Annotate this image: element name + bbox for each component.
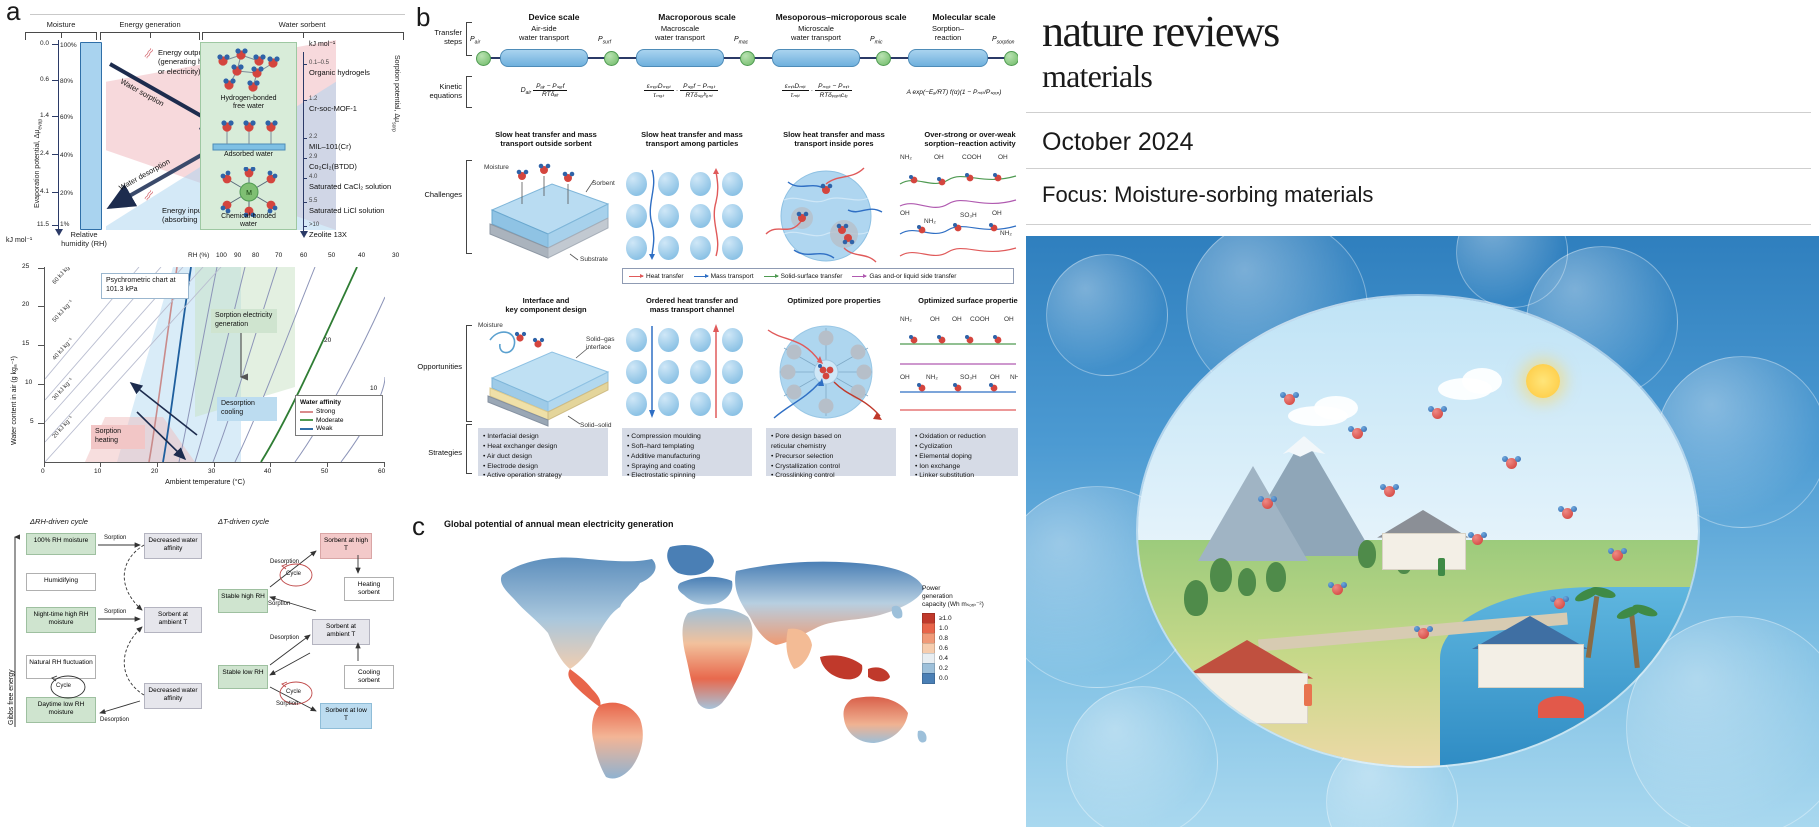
cloud-2b (1314, 396, 1358, 420)
brace-sorbent (202, 32, 404, 40)
c-legend-label-0: ≥1.0 (939, 615, 952, 622)
strategies-box-meso: • Pore design based on reticular chemist… (766, 428, 896, 476)
cycle-right-edges (210, 515, 410, 755)
step-label-sorption-reaction: Sorption– reaction (902, 24, 994, 42)
sorbent-state-0-caption: Hydrogen-bonded free water (201, 95, 296, 112)
group-oh-2: OH (998, 154, 1008, 161)
strategy-s-4: • Crosslinking control (771, 471, 891, 481)
opportunity-title-1: Ordered heat transfer and mass transport… (622, 296, 762, 315)
op2-l1: Optimized pore properties (764, 296, 904, 305)
ch0-l2: transport outside sorbent (476, 139, 616, 148)
caption-substrate: Substrate (580, 256, 608, 263)
tree-5 (1358, 540, 1376, 568)
sorbent-state-2-l2: water (201, 221, 296, 229)
cycle-edge-cycle-left: Cycle (56, 683, 71, 689)
c-legend-label-6: 0.0 (939, 675, 948, 682)
legend-heat-transfer: Heat transfer (629, 273, 684, 280)
brace-challenges (466, 160, 472, 254)
scale-value-1: 1.2 (309, 96, 317, 102)
sorbent-state-2-caption: Chemical-bonded water (201, 213, 296, 230)
ch1-l2: transport among particles (622, 139, 762, 148)
psy-ytick-15: 15 (22, 340, 29, 347)
row-label-transfer-steps: Transfer steps (410, 28, 462, 46)
step-sorp-l2: reaction (902, 33, 994, 42)
strategy-m-3: • Spraying and coating (627, 462, 747, 472)
opportunity-title-0: Interface and key component design (476, 296, 616, 315)
sub-p-mic: mic (875, 39, 883, 45)
challenge-title-3: Over-strong or over-weak sorption–reacti… (900, 130, 1018, 149)
ch0-l1: Slow heat transfer and mass (476, 130, 616, 139)
house-red (1188, 640, 1306, 724)
scale-value-5: 5.5 (309, 198, 317, 204)
scale-value-6: >10 (309, 222, 319, 228)
journal-brand-line1: nature reviews (1042, 10, 1279, 55)
equation-micro: εₘᵢ‍ₜDₘᵢₜτₘᵢₜ · Pₘₐₜ − PₘᵢₜRTδₚₐᵣₜᵢᴄₗₑ (762, 82, 872, 99)
sorption-potential-axis-label: Sorption potential, Δμsorp (391, 55, 400, 132)
c-legend-t3: capacity (Wh mₛₒᵣₚ⁻²) (922, 601, 1008, 609)
hbond-network-icon (207, 47, 291, 95)
house-red-body (1188, 673, 1308, 724)
cycle-edge-sorption-1: Sorption (104, 535, 126, 541)
node-p-air (476, 51, 491, 66)
op0-l1: Interface and (476, 296, 616, 305)
illustration-optimized-pores (764, 320, 888, 424)
strategies-box-device: • Interfacial design • Heat exchanger de… (478, 428, 608, 476)
opportunity-title-2: Optimized pore properties (764, 296, 904, 305)
psy-xtick-10: 10 (94, 468, 101, 475)
ch2-l1: Slow heat transfer and mass (764, 130, 904, 139)
house-blue (1478, 616, 1582, 688)
psy-xtick-20: 20 (151, 468, 158, 475)
caption-moisture-2: Moisture (478, 322, 503, 329)
equation-molecular: A exp(−Eₐ/RT) f(α)(1 − Pₘᵢₜ/Pₛₒᵣₚ) (894, 88, 1014, 96)
sorption-scale-axis (303, 52, 304, 232)
evaporation-axis (58, 40, 59, 230)
group-nh2-1: NH₂ (900, 154, 912, 161)
step-air-l1: Air-side (494, 24, 594, 33)
psy-xtick-60: 60 (378, 468, 385, 475)
cycle-edge-sorption-r1: Sorption (268, 601, 290, 607)
challenge-title-2: Slow heat transfer and mass transport in… (764, 130, 904, 149)
legend-row-strong: Strong (300, 408, 378, 415)
sorbent-state-1-l1: Adsorbed water (201, 151, 296, 159)
beach-umbrella (1538, 696, 1584, 718)
row-label-challenges: Challenges (410, 190, 462, 199)
panel-c-title: Global potential of annual mean electric… (444, 519, 674, 529)
chemical-bonded-water-icon: M (215, 167, 283, 217)
c-legend-label-1: 1.0 (939, 625, 948, 632)
eq1-num1: εₘₐₜDₘₐₜ (644, 82, 674, 91)
c-legend-row-4: 0.4 (922, 653, 1008, 663)
label-p-surf: Psurf (598, 36, 611, 45)
strategy-d-3: • Electrode design (483, 462, 603, 472)
sorbent-state-1-caption: Adsorbed water (201, 151, 296, 159)
sorp-label-text: Sorption potential, Δμ (393, 55, 400, 122)
opt-group-nh2: NH₂ (900, 316, 912, 323)
legend-mass-transport: Mass transport (694, 273, 754, 280)
label-p-mac: Pmac (734, 36, 748, 45)
evaporation-unit-label: kJ mol⁻¹ (6, 236, 32, 244)
rh-label-5: 1% (60, 221, 69, 228)
strategy-s-2: • Precursor selection (771, 452, 891, 462)
op1-l1: Ordered heat transfer and (622, 296, 762, 305)
cycle-edge-desorption-1: Desorption (100, 717, 129, 723)
annotation-sorption-heating: Sorption heating (91, 425, 145, 449)
cover-rule-top (1026, 112, 1811, 113)
c-legend-row-5: 0.2 (922, 663, 1008, 673)
figure-composite: a Moisture Energy generation Water sorbe… (0, 0, 1018, 827)
scale-name-4: Saturated CaCl₂ solution (309, 182, 391, 191)
psy-xtick-30: 30 (208, 468, 215, 475)
group-cooh-1: COOH (962, 154, 982, 161)
panel-a-rule (30, 14, 405, 15)
legend-mass-label: Mass transport (711, 273, 754, 280)
opt-group-oh-3: OH (1004, 316, 1014, 323)
psy-ytick-20: 20 (22, 301, 29, 308)
rh-curve-10: 10 (370, 385, 377, 392)
strategies-box-molecular: • Oxidation or reduction • Cyclization •… (910, 428, 1018, 476)
psy-y-axis-label: Water content in air (g kgₐ⁻¹) (10, 356, 18, 445)
column-header-device: Device scale (494, 12, 614, 22)
step-sorp-l1: Sorption– (902, 24, 994, 33)
group-oh-3: OH (900, 210, 910, 217)
panel-c-letter: c (412, 511, 425, 542)
rh-label-4: 20% (60, 190, 73, 197)
legend-label-weak: Weak (316, 425, 333, 432)
step-mac-l1: Macroscale (630, 24, 730, 33)
cover-rule-bottom (1026, 224, 1811, 225)
tree-1 (1210, 558, 1232, 592)
equation-device: Dair Pₐᵢᵣ − PₛᵤᵣfRTδₐᵢᵣ (494, 82, 594, 98)
column-header-macroporous: Macroporous scale (632, 12, 762, 22)
psy-xtick-0: 0 (41, 468, 45, 475)
strategy-d-0: • Interfacial design (483, 432, 603, 442)
relative-humidity-bar (80, 42, 102, 230)
scale-name-3: Co₂Cl₂(BTDD) (309, 162, 357, 171)
psy-chart-title-text: Psychrometric chart at 101.3 kPa (106, 277, 176, 293)
step-mac-l2: water transport (630, 33, 730, 42)
tree-2 (1238, 568, 1256, 596)
node-p-mic (876, 51, 891, 66)
eq1-num2: Pₛᵤᵣf − Pₘₐₜ (680, 82, 718, 91)
strategy-s-3: • Crystallization control (771, 462, 891, 472)
legend-solid-label: Solid-surface transfer (781, 273, 843, 280)
label-p-mic: Pmic (870, 36, 882, 45)
psychrometric-chart: Water content in air (g kgₐ⁻¹) 25 20 15 … (0, 245, 410, 495)
psy-plot-inner: 60 kJ kg⁻¹ 50 kJ kg⁻¹ 40 kJ kg⁻¹ 30 kJ k… (45, 267, 385, 462)
c-legend-label-2: 0.8 (939, 635, 948, 642)
sub-p-sorption: sorption (997, 39, 1015, 45)
c-legend-label-5: 0.2 (939, 665, 948, 672)
step-air-l2: water transport (494, 33, 594, 42)
sorp-label-sub: sorp (391, 122, 397, 132)
c-legend-t1: Power (922, 585, 1008, 593)
scale-name-0: Organic hydrogels (309, 68, 370, 77)
rh-curve-80: 80 (252, 252, 259, 259)
power-generation-legend: Power generation capacity (Wh mₛₒᵣₚ⁻²) ≥… (922, 585, 1008, 683)
sub-p-surf: surf (603, 39, 611, 45)
sub-p-mac: mac (739, 39, 748, 45)
evap-tick-0: 0.0 (27, 40, 49, 47)
brace-opportunities (466, 325, 472, 422)
cover-artwork (1026, 236, 1819, 827)
evap-tick-3: 2.4 (27, 150, 49, 157)
journal-brand-line2: materials (1042, 58, 1152, 95)
rh-curve-100: 100 (216, 252, 227, 259)
c-legend-title: Power generation capacity (Wh mₛₒᵣₚ⁻²) (922, 585, 1008, 609)
ch3-l2: sorption–reaction activity (900, 139, 1018, 148)
op3-l1: Optimized surface properties (900, 296, 1018, 305)
c-legend-row-6: 0.0 (922, 673, 1008, 683)
ch1-l1: Slow heat transfer and mass (622, 130, 762, 139)
evap-tick-4: 4.1 (27, 188, 49, 195)
legend-label-strong: Strong (316, 408, 335, 415)
step-mic-l1: Microscale (766, 24, 866, 33)
strategy-x-3: • Ion exchange (915, 462, 1017, 472)
person-1 (1304, 684, 1312, 706)
op1-l2: mass transport channel (622, 305, 762, 314)
strategy-m-4: • Electrostatic spinning (627, 471, 747, 481)
row-transfer-l2: steps (410, 37, 462, 46)
eq2-den1: τₘᵢₜ (782, 91, 809, 99)
cloud-1b (1462, 368, 1502, 394)
eq0-num: Pₐᵢᵣ − Pₛᵤᵣf (533, 82, 567, 91)
eq2-num2: Pₘₐₜ − Pₘᵢₜ (815, 82, 852, 91)
opt-group-oh-4: OH (900, 374, 910, 381)
rh-curve-20: 20 (324, 337, 331, 344)
pill-macroscale-transport (636, 49, 724, 67)
step-label-microscale: Microscale water transport (766, 24, 866, 42)
rh-label-0: 100% (60, 42, 77, 49)
cycle-edge-sorption-2: Sorption (104, 609, 126, 615)
scale-name-6: Zeolite 13X (309, 230, 347, 239)
person-2 (1438, 558, 1445, 576)
caption-sorbent: Sorbent (592, 180, 615, 187)
column-header-mesoporous: Mesoporous–microporous scale (766, 12, 916, 22)
step-mic-l2: water transport (766, 33, 866, 42)
sorbent-state-2-l1: Chemical-bonded (201, 213, 296, 221)
psy-xtick-40: 40 (264, 468, 271, 475)
group-label-moisture: Moisture (22, 20, 100, 29)
rh-header: RH (%) (188, 252, 209, 259)
adsorbed-water-icon (211, 117, 287, 151)
c-legend-row-3: 0.6 (922, 643, 1008, 653)
legend-gas-label: Gas and-or liquid side transfer (869, 273, 956, 280)
psy-ytick-5: 5 (30, 418, 34, 425)
house-blue-body (1478, 644, 1584, 688)
scale-name-1: Cr-soc-MOF-1 (309, 104, 357, 113)
scale-value-2: 2.2 (309, 134, 317, 140)
scale-value-0: 0.1–0.5 (309, 60, 329, 66)
cycle-edge-cycle-r2: Cycle (286, 689, 301, 695)
psy-ytick-10: 10 (25, 379, 32, 386)
evap-tick-2: 1.4 (27, 112, 49, 119)
strategy-s-0: • Pore design based on (771, 432, 891, 442)
pill-microscale-transport (772, 49, 860, 67)
eq2-den2: RTδₚₐᵣₜᵢᴄₗₑ (815, 91, 852, 99)
c-legend-row-1: 1.0 (922, 623, 1008, 633)
world-map-svg (484, 533, 934, 783)
sub-p-air: air (475, 39, 481, 45)
group-label-sorbent: Water sorbent (212, 20, 392, 29)
journal-cover: nature reviews materials October 2024 Fo… (1018, 0, 1819, 827)
brace-strategies (466, 424, 472, 474)
group-nh2-2: NH₂ (924, 218, 936, 225)
strategy-s-1: reticular chemistry (771, 442, 891, 452)
c-legend-label-4: 0.4 (939, 655, 948, 662)
challenge-title-0: Slow heat transfer and mass transport ou… (476, 130, 616, 149)
caption-moisture: Moisture (484, 164, 509, 171)
group-label-energy: Energy generation (100, 20, 200, 29)
eq2-num1: εₘᵢ‍ₜDₘᵢₜ (782, 82, 809, 91)
strategy-d-4: • Active operation strategy (483, 471, 603, 481)
opt-group-nh2-3: NH₂ (1010, 374, 1018, 381)
legend-row-weak: Weak (300, 425, 378, 432)
water-affinity-legend: Water affinity Strong Moderate Weak (295, 395, 383, 436)
legend-solid-surface: Solid-surface transfer (764, 273, 843, 280)
legend-title: Water affinity (300, 399, 378, 406)
panel-c: c Global potential of annual mean electr… (414, 505, 1018, 827)
psy-x-axis-label: Ambient temperature (°C) (0, 479, 410, 486)
step-label-macroscale: Macroscale water transport (630, 24, 730, 42)
sorbent-state-0-l2: free water (201, 103, 296, 111)
column-header-molecular: Molecular scale (914, 12, 1014, 22)
rh-curve-30: 30 (392, 252, 399, 259)
rh-curve-90: 90 (234, 252, 241, 259)
house-white (1382, 510, 1464, 570)
ch2-l2: transport inside pores (764, 139, 904, 148)
panel-cycles: Gibbs free energy ΔRH-driven cycle ΔT-dr… (0, 515, 410, 827)
panel-b: b Device scale Macroporous scale Mesopor… (414, 0, 1018, 500)
legend-gas-liquid: Gas and-or liquid side transfer (852, 273, 956, 280)
eq0-sub: air (526, 90, 532, 96)
earth-dome (1136, 294, 1700, 768)
evap-tick-1: 0.6 (27, 76, 49, 83)
rh-caption-l1: Relative (44, 230, 124, 239)
c-legend-label-3: 0.6 (939, 645, 948, 652)
eq0-den: RTδₐᵢᵣ (533, 91, 567, 98)
scale-name-2: MIL–101(Cr) (309, 142, 351, 151)
world-map (484, 533, 934, 783)
psy-chart-title: Psychrometric chart at 101.3 kPa (101, 273, 189, 299)
figure-page: a Moisture Energy generation Water sorbe… (0, 0, 1819, 827)
cycle-edge-desorption-r1: Desorption (270, 559, 299, 565)
row-label-kinetic: Kinetic equations (410, 82, 462, 100)
particle-flow-arrows (622, 166, 750, 266)
strategy-x-0: • Oxidation or reduction (915, 432, 1017, 442)
row-label-opportunities: Opportunities (402, 362, 462, 371)
opt-group-nh2-2: NH₂ (926, 374, 938, 381)
tree-3 (1184, 580, 1208, 616)
ordered-flow-arrows (622, 322, 750, 424)
ch3-l1: Over-strong or over-weak (900, 130, 1018, 139)
sorbent-state-0-l1: Hydrogen-bonded (201, 95, 296, 103)
strategy-m-0: • Compression moulding (627, 432, 747, 442)
tree-4 (1266, 562, 1286, 592)
psy-ytick-25: 25 (22, 263, 29, 270)
opt-group-oh-2: OH (952, 316, 962, 323)
evap-label-text: Evaporation potential, Δμ (34, 130, 41, 208)
legend-label-moderate: Moderate (316, 417, 343, 424)
row-kinetic-l2: equations (410, 91, 462, 100)
sun-icon (1526, 364, 1560, 398)
rh-curve-70: 70 (275, 252, 282, 259)
evap-tick-5: 11.5 (27, 221, 49, 228)
node-p-mac (740, 51, 755, 66)
legend-row-moderate: Moderate (300, 417, 378, 424)
group-oh-4: OH (992, 210, 1002, 217)
sorbent-states-box: Hydrogen-bonded free water Adsorbed wate… (200, 42, 297, 230)
strategy-d-1: • Heat exchanger design (483, 442, 603, 452)
evap-label-sub: evap (37, 119, 43, 130)
strategy-x-1: • Cyclization (915, 442, 1017, 452)
brace-kinetic (466, 76, 472, 108)
house-white-body (1382, 533, 1466, 570)
challenge-title-1: Slow heat transfer and mass transport am… (622, 130, 762, 149)
annotation-desorption-cooling: Desorption cooling (217, 397, 277, 421)
rh-curve-50: 50 (328, 252, 335, 259)
cycle-edge-sorption-r2: Sorption (276, 701, 298, 707)
panel-a-letter: a (6, 0, 20, 27)
svg-text:M: M (246, 190, 252, 197)
equation-macro: εₘₐₜDₘₐₜτₘₐₜ · Pₛᵤᵣf − PₘₐₜRTδₛₒᵣᵇₑₙₜ (626, 82, 736, 99)
row-kinetic-l1: Kinetic (410, 82, 462, 91)
strategy-m-2: • Additive manufacturing (627, 452, 747, 462)
cycle-edge-desorption-r2: Desorption (270, 635, 299, 641)
group-so3h-1: SO₃H (960, 212, 977, 219)
psy-plot-frame: 60 kJ kg⁻¹ 50 kJ kg⁻¹ 40 kJ kg⁻¹ 30 kJ k… (44, 267, 385, 463)
optimized-surface-chains (898, 318, 1018, 420)
illustration-slab (482, 162, 612, 262)
rh-label-2: 60% (60, 114, 73, 121)
strategy-x-2: • Elemental doping (915, 452, 1017, 462)
rh-label-3: 40% (60, 152, 73, 159)
op0-l2: key component design (476, 305, 616, 314)
sorption-scale-unit: kJ mol⁻¹ (309, 40, 335, 48)
cover-rule-mid (1026, 168, 1811, 169)
cover-focus: Focus: Moisture-sorbing materials (1042, 182, 1373, 208)
annotation-sorption-electricity: Sorption electricity generation (211, 309, 277, 333)
illustration-pore-sphere (764, 164, 888, 268)
rh-label-1: 80% (60, 78, 73, 85)
brace-energy (100, 32, 200, 40)
scale-value-4: 4.0 (309, 174, 317, 180)
strategy-x-4: • Linker substitution (915, 471, 1017, 481)
pill-air-side-transport (500, 49, 588, 67)
rh-curve-40: 40 (358, 252, 365, 259)
strategy-m-1: • Soft–hard templating (627, 442, 747, 452)
node-p-sorption (1004, 51, 1018, 66)
brace-moisture (25, 32, 97, 40)
row-transfer-l1: Transfer (410, 28, 462, 37)
rh-curve-60: 60 (300, 252, 307, 259)
strategies-box-macro: • Compression moulding • Soft–hard templ… (622, 428, 752, 476)
eq1-den2: RTδₛₒᵣᵇₑₙₜ (680, 91, 718, 99)
cycle-edge-cycle-r1: Cycle (286, 571, 301, 577)
opt-group-so3h: SO₃H (960, 374, 977, 381)
row-label-strategies: Strategies (408, 448, 462, 457)
label-p-sorption: Psorption (992, 36, 1014, 45)
pill-sorption-reaction (908, 49, 988, 67)
psy-xtick-50: 50 (321, 468, 328, 475)
c-legend-t2: generation (922, 593, 1008, 601)
c-legend-row-2: 0.8 (922, 633, 1008, 643)
eq1-den1: τₘₐₜ (644, 91, 674, 99)
scale-name-5: Saturated LiCl solution (309, 206, 384, 215)
opt-group-oh-1: OH (930, 316, 940, 323)
scale-value-3: 2.9 (309, 154, 317, 160)
cover-masthead: nature reviews materials October 2024 Fo… (1018, 0, 1819, 236)
